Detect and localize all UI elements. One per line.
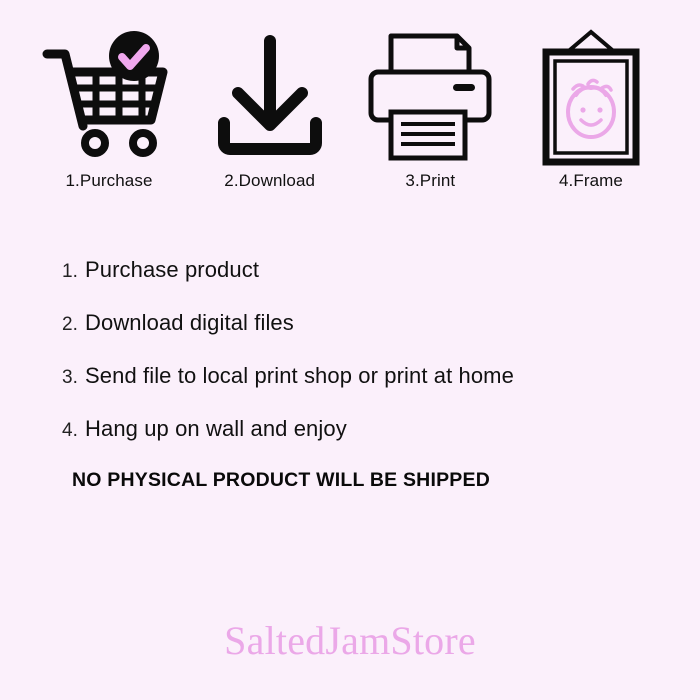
framed-art-icon [526, 26, 656, 166]
printer-icon [365, 26, 495, 166]
step-frame: 4.Frame [516, 26, 666, 189]
list-item: 3. Send file to local print shop or prin… [62, 363, 680, 389]
disclaimer-text: NO PHYSICAL PRODUCT WILL BE SHIPPED [0, 469, 700, 492]
instruction-text: Download digital files [85, 310, 294, 336]
shopping-cart-check-icon [39, 26, 179, 166]
instruction-number: 1. [62, 261, 82, 283]
list-item: 2. Download digital files [62, 310, 680, 336]
step-label-frame: 4.Frame [559, 172, 623, 189]
instruction-text: Purchase product [85, 257, 259, 283]
instruction-number: 2. [62, 314, 82, 336]
download-arrow-icon [206, 26, 334, 166]
step-download: 2.Download [195, 26, 345, 189]
step-label-print: 3.Print [405, 172, 455, 189]
instruction-number: 4. [62, 420, 82, 442]
step-label-purchase: 1.Purchase [66, 172, 153, 189]
step-label-download: 2.Download [224, 172, 315, 189]
list-item: 4. Hang up on wall and enjoy [62, 416, 680, 442]
instructions-list: 1. Purchase product 2. Download digital … [0, 257, 700, 442]
store-brand-name: SaltedJamStore [0, 617, 700, 664]
instruction-text: Hang up on wall and enjoy [85, 416, 347, 442]
step-print: 3.Print [355, 26, 505, 189]
list-item: 1. Purchase product [62, 257, 680, 283]
step-purchase: 1.Purchase [34, 26, 184, 189]
instruction-number: 3. [62, 367, 82, 389]
instruction-text: Send file to local print shop or print a… [85, 363, 514, 389]
steps-row: 1.Purchase 2.Download [0, 0, 700, 189]
instruction-card: 1.Purchase 2.Download [0, 0, 700, 700]
